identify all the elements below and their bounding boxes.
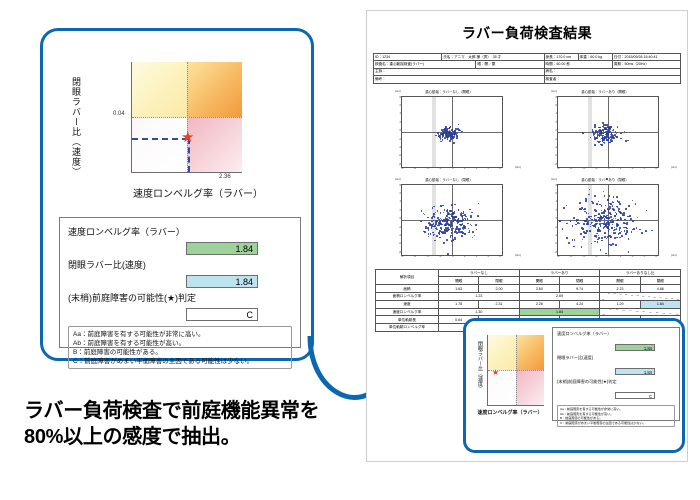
scatter-point: [437, 225, 439, 227]
table-header-row: 解析項目 ラバーなし ラバーあり ラバーありなし比: [376, 269, 681, 277]
cell-highlighted: 1.84: [640, 300, 680, 308]
plot-y-ticks: 86420-2-4-6-8: [549, 96, 557, 166]
scatter-point: [629, 215, 631, 217]
scatter-point: [607, 199, 609, 201]
scatter-point: [478, 203, 480, 205]
hdr-date: 日付：2015/09/28 15:40:41: [612, 54, 680, 61]
plot-x-tick: -8: [401, 167, 403, 170]
scatter-point: [474, 235, 476, 237]
quadrant-top-right: [187, 62, 242, 117]
scatter-point: [616, 237, 618, 239]
inset-field2-row: 1.84: [557, 361, 675, 379]
scatter-point: [624, 230, 626, 232]
scatter-point: [581, 227, 583, 229]
scatter-point: [559, 220, 561, 222]
field3-label: (末梢)前庭障害の可能性(★)判定: [68, 291, 292, 304]
scatter-point: [626, 222, 628, 224]
hdr-cycle: 周期：50ms（20Hz）: [612, 61, 680, 68]
scatter-point: [463, 211, 465, 213]
scatter-point: [458, 209, 460, 211]
scatter-point: [616, 206, 618, 208]
scatter-point: [607, 217, 609, 219]
plot-x-tick: 2: [464, 255, 465, 258]
sub-header: 閉眼: [640, 277, 680, 285]
inset-field1-value: 1.84: [615, 344, 655, 351]
table-row: 速度ロンベルグ率 1.30 1.84: [376, 308, 681, 316]
scatter-point: [619, 227, 621, 229]
row-label: 速度ロンベルグ率: [376, 308, 439, 316]
legend-item: Ab：前庭障害を有する可能性が高い。: [73, 339, 287, 348]
scatter-point: [603, 223, 605, 225]
scatter-point: [603, 227, 605, 229]
scatter-point: [606, 133, 608, 135]
scatter-point: [456, 232, 458, 234]
scatter-point: [598, 141, 600, 143]
scatter-point: [601, 237, 603, 239]
scatter-point: [599, 129, 601, 131]
plot-x-tick: 6: [488, 255, 489, 258]
cell: 1.63: [439, 285, 479, 293]
row-label: 単位軌跡ロンベルグ率: [376, 324, 439, 332]
quadrant-chart: 閉眼ラバー比（速度） ★ 0.04 2.36 速度ロンベルグ率（ラバー）: [43, 31, 317, 209]
scatter-point: [617, 126, 619, 128]
scatter-point: [628, 238, 630, 240]
scatter-point: [427, 227, 429, 229]
scatter-point: [456, 137, 458, 139]
caption: ラバー負荷検査で前庭機能異常を 80%以上の感度で抽出。: [24, 398, 354, 450]
scatter-point: [604, 143, 606, 145]
scatter-point: [594, 241, 596, 243]
plot-frame: [401, 184, 503, 256]
scatter-point: [612, 208, 614, 210]
cell: 2.23: [600, 285, 640, 293]
cell: 1.78: [439, 300, 479, 308]
scatter-point: [442, 205, 444, 207]
scatter-point: [608, 138, 610, 140]
scatter-point: [621, 235, 623, 237]
scatter-point: [457, 128, 459, 130]
field3-value-row: C: [68, 305, 292, 323]
scatter-point: [616, 228, 618, 230]
scatter-point: [609, 207, 611, 209]
sub-header: 閉眼: [479, 277, 519, 285]
inset-field1-row: 1.84: [557, 337, 675, 355]
scatter-point: [452, 138, 454, 140]
scatter-point: [612, 224, 614, 226]
field1-label: 速度ロンベルグ率（ラバー）: [68, 225, 292, 238]
scatter-point: [444, 209, 446, 211]
hdr-complaint: 主訴：: [374, 68, 545, 75]
scatter-point: [449, 133, 451, 135]
plot-x-tick: 4: [632, 255, 633, 258]
scatter-point: [451, 135, 453, 137]
plot-row-top: 重心動揺：ラバーなし（開眼） (cm) 86420-2-4-6-8 -8-6-4…: [375, 89, 679, 177]
scatter-point: [428, 229, 430, 231]
plot-unit-x: (cm): [515, 253, 521, 257]
plot-unit-x: (cm): [671, 165, 677, 169]
scatter-point: [562, 228, 564, 230]
field2-label: 閉眼ラバー比(速度): [68, 258, 292, 271]
sub-header: 開眼: [600, 277, 640, 285]
plot-x-tick: 8: [655, 255, 656, 258]
scatter-point: [454, 204, 456, 206]
scatter-point: [428, 233, 430, 235]
hdr-duration: 時間：60.00 秒: [544, 61, 612, 68]
sub-header: 閉眼: [559, 277, 599, 285]
scatter-point: [566, 223, 568, 225]
plot-x-tick: -2: [595, 167, 597, 170]
scatter-point: [610, 236, 612, 238]
plot-y-ticks: 86420-2-4-6-8: [393, 184, 401, 254]
scatter-point: [573, 217, 575, 219]
cell: 4.86: [640, 285, 680, 293]
scatter-point: [451, 240, 453, 242]
scatter-point: [437, 210, 439, 212]
scatter-point: [585, 200, 587, 202]
scatter-point: [596, 137, 598, 139]
scatter-point: [600, 249, 602, 251]
hdr-height: 身長：170.0 cm: [544, 54, 578, 61]
scatter-point: [452, 235, 454, 237]
quadrant-bottom-left: [132, 117, 187, 172]
scatter-point: [604, 210, 606, 212]
scatter-point: [579, 223, 581, 225]
scatter-point: [595, 210, 597, 212]
scatter-point: [425, 226, 427, 228]
scatter-point: [446, 239, 448, 241]
scatter-point: [472, 237, 474, 239]
scatter-plot: 重心動揺：ラバーあり（開眼） (cm) 86420-2-4-6-8 -8-6-4…: [531, 89, 679, 177]
scatter-point: [628, 251, 630, 253]
scatter-point: [583, 223, 585, 225]
patient-header-table: ID：1234 氏名：アニマ 太郎 様（男） 35 才 身長：170.0 cm …: [373, 53, 681, 84]
legend-item: Aa：前庭障害を有する可能性が非常に高い。: [73, 330, 287, 339]
plot-x-tick: -8: [401, 255, 403, 258]
scatter-point: [428, 236, 430, 238]
scatter-point: [604, 128, 606, 130]
scatter-point: [596, 233, 598, 235]
scatter-point: [619, 203, 621, 205]
hdr-id: ID：1234: [374, 54, 442, 61]
scatter-point: [467, 223, 469, 225]
group-header: ラバーありなし比: [600, 269, 681, 277]
scatter-point: [605, 205, 607, 207]
scatter-point: [427, 217, 429, 219]
scatter-point: [582, 132, 584, 134]
scatter-point: [433, 234, 435, 236]
scatter-point: [471, 212, 473, 214]
quadrant-top-left: [488, 335, 516, 370]
scatter-point: [609, 225, 611, 227]
scatter-point: [468, 232, 470, 234]
scatter-point: [477, 215, 479, 217]
scatter-point: [645, 230, 647, 232]
cell: 1.30: [439, 308, 520, 316]
row-label: 面積: [376, 285, 439, 293]
plot-x-ticks: -8-6-4-202468: [401, 255, 501, 258]
plot-x-ticks: -8-6-4-202468: [557, 167, 657, 170]
scatter-point: [471, 225, 473, 227]
plot-x-tick: 8: [655, 167, 656, 170]
inset-quadrant-chart: 閉眼ラバー比（速度） ★ 速度ロンベルグ率（ラバー）: [470, 327, 548, 439]
scatter-point: [454, 238, 456, 240]
scatter-plot: 重心動揺：ラバーなし（開眼） (cm) 86420-2-4-6-8 -8-6-4…: [375, 89, 523, 177]
plot-x-tick: 8: [499, 255, 500, 258]
scatter-point: [572, 225, 574, 227]
scatter-point: [596, 204, 598, 206]
scatter-point: [605, 124, 607, 126]
scatter-point: [632, 200, 634, 202]
scatter-point: [616, 196, 618, 198]
scatter-point: [448, 229, 450, 231]
cell: 4.24: [559, 300, 599, 308]
scatter-point: [611, 227, 613, 229]
scatter-point: [631, 231, 633, 233]
scatter-point: [596, 131, 598, 133]
scatter-point: [462, 219, 464, 221]
scatter-point: [583, 231, 585, 233]
scatter-point: [595, 235, 597, 237]
plot-unit-y: (cm): [551, 89, 557, 93]
scatter-point: [469, 209, 471, 211]
row-label: 単位軌跡長: [376, 316, 439, 324]
scatter-point: [451, 204, 453, 206]
scatter-plot-grid: 重心動揺：ラバーなし（開眼） (cm) 86420-2-4-6-8 -8-6-4…: [375, 89, 679, 265]
plot-x-tick: -4: [426, 255, 428, 258]
scatter-point: [603, 191, 605, 193]
table-row: 備考： 検査者：: [374, 76, 681, 83]
scatter-point: [597, 241, 599, 243]
scatter-point: [625, 233, 627, 235]
scatter-point: [462, 232, 464, 234]
scatter-point: [593, 225, 595, 227]
cell: 3.60: [519, 285, 559, 293]
plot-x-tick: -6: [570, 167, 572, 170]
legend-item: C：前庭障害がめまい平衡障害の主因である可能性は少ない。: [73, 357, 287, 366]
scatter-point: [635, 203, 637, 205]
scatter-point: [582, 239, 584, 241]
scatter-point: [454, 211, 456, 213]
plot-unit-x: (cm): [671, 253, 677, 257]
scatter-point: [632, 220, 634, 222]
plot-x-tick: 4: [476, 167, 477, 170]
scatter-point: [589, 230, 591, 232]
scatter-point: [459, 228, 461, 230]
field1-value-row: 1.84: [68, 239, 292, 257]
table-row: 検査名：重心動揺検査(ラバー) 眼：開／閉 時間：60.00 秒 周期：50ms…: [374, 61, 681, 68]
scatter-point: [568, 242, 570, 244]
scatter-point: [429, 224, 431, 226]
scatter-point: [572, 239, 574, 241]
scatter-point: [441, 133, 443, 135]
scatter-point: [613, 196, 615, 198]
scatter-point: [580, 233, 582, 235]
chart-plot-area: ★: [131, 62, 242, 173]
plot-unit-y: (cm): [395, 177, 401, 181]
hdr-name: 氏名：アニマ 太郎 様（男） 35 才: [442, 54, 544, 61]
scatter-point: [616, 136, 618, 138]
scatter-point: [609, 195, 611, 197]
cell: 2.26: [519, 300, 559, 308]
scatter-point: [591, 243, 593, 245]
plot-unit-y: (cm): [395, 89, 401, 93]
plot-frame: [557, 96, 659, 168]
scatter-point: [446, 131, 448, 133]
scatter-point: [619, 232, 621, 234]
scatter-point: [602, 122, 604, 124]
scatter-point: [472, 231, 474, 233]
inset-highlight-panel: 閉眼ラバー比（速度） ★ 速度ロンベルグ率（ラバー） 速度ロンベルグ率（ラバー）…: [463, 318, 685, 453]
scatter-point: [594, 144, 596, 146]
scatter-point: [620, 138, 622, 140]
scatter-point: [449, 140, 451, 142]
plot-x-tick: -4: [582, 255, 584, 258]
plot-x-tick: 4: [632, 167, 633, 170]
scatter-point: [438, 135, 440, 137]
scatter-point: [612, 205, 614, 207]
hdr-diagnosis: 病名：: [544, 68, 680, 75]
threshold-vertical-line: [516, 335, 517, 405]
scatter-point: [446, 210, 448, 212]
scatter-point: [616, 213, 618, 215]
sub-header: 開眼: [519, 277, 559, 285]
scatter-point: [614, 227, 616, 229]
scatter-point: [574, 239, 576, 241]
scatter-point: [456, 216, 458, 218]
inset-legend-item: C：前庭障害がめまい平衡障害の主因である可能性は少ない。: [560, 421, 672, 426]
scatter-point: [610, 214, 612, 216]
scatter-point: [610, 244, 612, 246]
plot-x-tick: 4: [476, 255, 477, 258]
inset-field3-row: C: [557, 385, 675, 403]
plot-x-tick: 2: [620, 255, 621, 258]
scatter-point: [580, 209, 582, 211]
scatter-point: [433, 213, 435, 215]
scatter-point: [592, 202, 594, 204]
plot-x-ticks: -8-6-4-202468: [557, 255, 657, 258]
row-label: 面積ロンベルグ率: [376, 292, 439, 300]
scatter-point: [611, 140, 613, 142]
scatter-point: [612, 137, 614, 139]
field2-value-row: 1.84: [68, 272, 292, 290]
chart-y-axis-label: 閉眼ラバー比（速度）: [65, 77, 81, 177]
scatter-point: [632, 229, 634, 231]
table-row: 面積 1.63 2.00 3.60 9.74 2.23 4.86: [376, 285, 681, 293]
scatter-point: [420, 221, 422, 223]
cell: 9.74: [559, 285, 599, 293]
scatter-point: [607, 208, 609, 210]
scatter-point: [423, 231, 425, 233]
scatter-point: [583, 236, 585, 238]
scatter-point: [447, 139, 449, 141]
inset-field3-value: C: [615, 392, 655, 399]
scatter-point: [579, 202, 581, 204]
scatter-point: [625, 140, 627, 142]
scatter-point: [646, 210, 648, 212]
table-row: 速度 1.78 2.31 2.26 4.24 1.29 1.84: [376, 300, 681, 308]
scatter-point: [599, 221, 601, 223]
scatter-point: [581, 246, 583, 248]
scatter-point: [448, 224, 450, 226]
scatter-point: [615, 244, 617, 246]
row-label: 速度: [376, 300, 439, 308]
scatter-point: [610, 203, 612, 205]
scatter-point: [570, 220, 572, 222]
scatter-point: [453, 142, 455, 144]
plot-row-bottom: 重心動揺：ラバーなし（閉眼） (cm) 86420-2-4-6-8 -8-6-4…: [375, 177, 679, 265]
scatter-point: [627, 216, 629, 218]
scatter-point: [458, 124, 460, 126]
scatter-point: [464, 214, 466, 216]
plot-x-tick: 0: [608, 167, 609, 170]
scatter-point: [641, 232, 643, 234]
scatter-point: [620, 218, 622, 220]
scatter-point: [618, 208, 620, 210]
plot-y-ticks: 86420-2-4-6-8: [393, 96, 401, 166]
scatter-point: [463, 226, 465, 228]
scatter-point: [594, 126, 596, 128]
scatter-point: [439, 233, 441, 235]
plot-x-tick: 8: [499, 167, 500, 170]
scatter-point: [563, 207, 565, 209]
inset-judgement-legend: Aa：前庭障害を有する可能性が非常に高い。 Ab：前庭障害を有する可能性が高い。…: [557, 405, 675, 427]
scatter-point: [441, 228, 443, 230]
plot-x-tick: 2: [620, 167, 621, 170]
scatter-point: [476, 229, 478, 231]
scatter-point: [436, 220, 438, 222]
scatter-point: [621, 231, 623, 233]
scatter-point: [449, 210, 451, 212]
scatter-point: [598, 201, 600, 203]
scatter-point: [598, 235, 600, 237]
scatter-point: [614, 215, 616, 217]
scatter-point: [637, 217, 639, 219]
scatter-point: [437, 217, 439, 219]
inset-star-marker: ★: [492, 369, 499, 377]
scatter-point: [610, 126, 612, 128]
scatter-point: [603, 213, 605, 215]
plot-x-tick: 6: [644, 167, 645, 170]
scatter-point: [443, 242, 445, 244]
plot-x-tick: -6: [570, 255, 572, 258]
cell: 2.69: [519, 292, 600, 300]
plot-x-tick: -6: [414, 167, 416, 170]
hdr-exam: 検査名：重心動揺検査(ラバー): [374, 61, 476, 68]
scatter-point: [454, 216, 456, 218]
plot-x-tick: 6: [488, 167, 489, 170]
document-title: ラバー負荷検査結果: [367, 23, 687, 43]
scatter-point: [591, 219, 593, 221]
scatter-point: [566, 237, 568, 239]
scatter-point: [436, 235, 438, 237]
scatter-point: [433, 226, 435, 228]
plot-x-tick: 0: [608, 255, 609, 258]
inset-x-axis-label: 速度ロンベルグ率（ラバー）: [472, 409, 548, 416]
left-highlight-panel: 閉眼ラバー比（速度） ★ 0.04 2.36 速度ロンベルグ率（ラバー） 速度ロ…: [40, 28, 314, 361]
scatter-point: [424, 214, 426, 216]
plot-x-tick: -6: [414, 255, 416, 258]
table-row: 面積ロンベルグ率 1.23 2.69: [376, 292, 681, 300]
quadrant-bottom-right: [516, 370, 544, 405]
inset-result-form: 速度ロンベルグ率（ラバー） 1.84 閉眼ラバー比(速度) 1.84 (末梢)前…: [552, 327, 680, 421]
scatter-plot: 重心動揺：ラバーなし（閉眼） (cm) 86420-2-4-6-8 -8-6-4…: [375, 177, 523, 265]
plot-x-tick: 6: [644, 255, 645, 258]
scatter-point: [610, 216, 612, 218]
scatter-point: [459, 220, 461, 222]
plot-x-tick: 2: [464, 167, 465, 170]
scatter-point: [601, 240, 603, 242]
quadrant-top-left: [132, 62, 187, 117]
